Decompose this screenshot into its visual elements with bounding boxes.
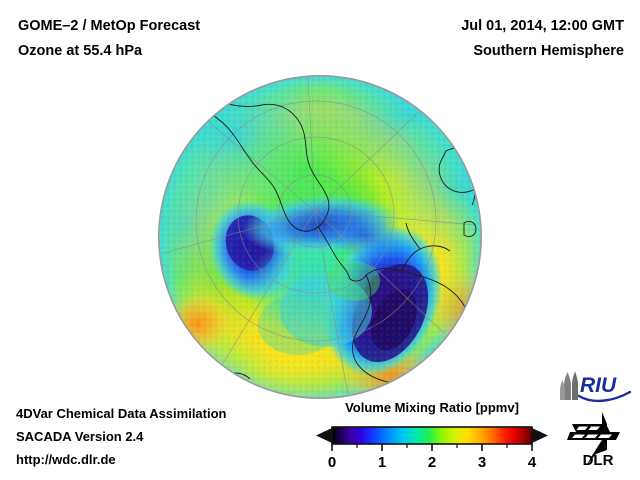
dlr-logo: DLR <box>566 410 628 468</box>
dlr-logo-text: DLR <box>583 452 614 468</box>
footer-line-version: SACADA Version 2.4 <box>16 425 227 448</box>
riu-tower-icon <box>564 372 571 400</box>
riu-tower-icon-2 <box>572 371 578 400</box>
colorbar-tick-labels: 0 1 2 3 4 <box>328 454 537 471</box>
colorbar-title: Volume Mixing Ratio [ppmv] <box>312 400 552 415</box>
header-left: GOME–2 / MetOp Forecast Ozone at 55.4 hP… <box>18 14 200 64</box>
colorbar-right-arrow <box>532 428 548 443</box>
header-title-line2: Ozone at 55.4 hPa <box>18 39 200 64</box>
colorbar-tick-4: 4 <box>528 454 537 471</box>
globe-data-field <box>158 75 482 399</box>
header-right: Jul 01, 2014, 12:00 GMT Southern Hemisph… <box>461 14 624 64</box>
globe-svg <box>158 75 482 399</box>
colorbar-svg: 0 1 2 3 4 <box>312 419 552 471</box>
header-datetime: Jul 01, 2014, 12:00 GMT <box>461 14 624 39</box>
footer-line-url: http://wdc.dlr.de <box>16 448 227 471</box>
colorbar-tick-0: 0 <box>328 454 336 471</box>
colorbar-tick-2: 2 <box>428 454 436 471</box>
colorbar-left-arrow <box>316 428 332 443</box>
footer-credits: 4DVar Chemical Data Assimilation SACADA … <box>16 402 227 471</box>
riu-logo: RIU <box>558 370 632 404</box>
colorbar-ticks <box>332 444 532 451</box>
globe-map <box>158 75 482 399</box>
colorbar-tick-1: 1 <box>378 454 386 471</box>
riu-logo-text: RIU <box>580 374 617 397</box>
header-title-line1: GOME–2 / MetOp Forecast <box>18 14 200 39</box>
header-hemisphere: Southern Hemisphere <box>461 39 624 64</box>
colorbar: Volume Mixing Ratio [ppmv] <box>312 400 552 471</box>
colorbar-tick-3: 3 <box>478 454 486 471</box>
footer-line-assimilation: 4DVar Chemical Data Assimilation <box>16 402 227 425</box>
colorbar-gradient <box>332 427 532 444</box>
